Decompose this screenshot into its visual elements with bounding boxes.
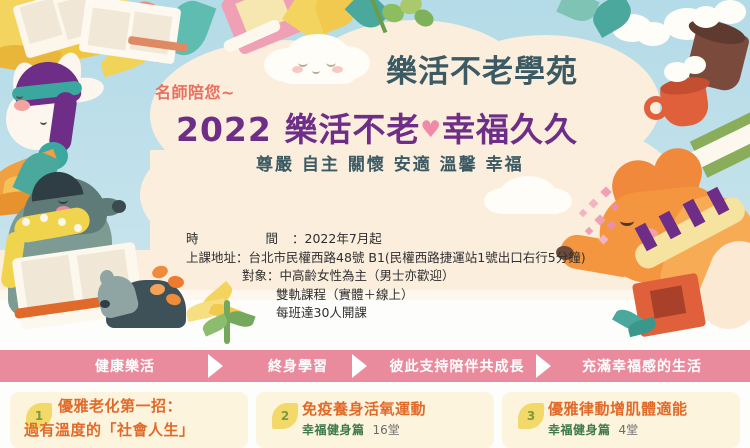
info-value-time: ：2022年7月起 <box>292 231 382 246</box>
steam-puff <box>714 0 746 24</box>
cloud-cheek <box>292 66 303 73</box>
cloud-cheek <box>332 66 343 73</box>
course-title: 優雅律動增肌體適能 <box>548 399 734 419</box>
info-row-time: 時 間：2022年7月起 <box>186 230 586 249</box>
poster-root: 樂活不老學苑 名師陪您~ 2022 樂活不老♥幸福久久 尊嚴 自主 關懷 安適 … <box>0 0 750 448</box>
course-series: 幸福健身篇 <box>302 423 365 437</box>
banner-item-3[interactable]: 充滿幸福感的生活 <box>552 350 732 382</box>
info-label-audience: 對象 <box>242 268 267 283</box>
headline-part-1: 2022 樂活不老 <box>176 110 420 149</box>
info-label-time: 時 間 <box>186 231 292 246</box>
course-count: 4堂 <box>619 423 639 437</box>
book-cover-panel <box>650 285 686 318</box>
decor-cloud <box>496 196 564 214</box>
steam-puff <box>684 56 706 74</box>
scarf-dot <box>74 224 82 232</box>
chevron-right-icon <box>208 354 225 378</box>
heart-icon: ♥ <box>420 117 442 143</box>
banner-item-1[interactable]: 終身學習 <box>228 350 368 382</box>
headline: 2022 樂活不老♥幸福久久 <box>176 103 578 151</box>
info-row-audience: 對象：中高齡女性為主（男士亦歡迎） <box>186 267 586 286</box>
hedgehog-ear <box>100 270 114 286</box>
book-page <box>88 8 131 51</box>
hedgehog-nose <box>100 300 110 308</box>
info-value-address: ：台北市民權西路48號 B1(民權西路捷運站1號出口右行5分鐘) <box>236 250 586 265</box>
course-subtitle: 幸福健身篇16堂 <box>302 421 488 439</box>
cloud-mouth <box>312 68 320 74</box>
info-row-dual-track: 雙軌課程（實體＋線上） <box>186 286 586 305</box>
values-subtitle: 尊嚴 自主 關懷 安適 溫馨 幸福 <box>256 150 524 175</box>
page-title: 樂活不老學苑 <box>386 46 578 91</box>
banner-item-0[interactable]: 健康樂活 <box>40 350 210 382</box>
fox-eye <box>620 216 634 226</box>
info-row-address: 上課地址：台北市民權西路48號 B1(民權西路捷運站1號出口右行5分鐘) <box>186 249 586 268</box>
info-value-audience: ：中高齡女性為主（男士亦歡迎） <box>267 268 455 283</box>
cup-handle <box>644 96 668 120</box>
mole-eye <box>58 196 68 204</box>
chevron-right-icon <box>352 354 369 378</box>
rabbit-eye <box>16 92 23 99</box>
course-title: 免疫養身活氧運動 <box>302 399 488 419</box>
rabbit-cheek <box>14 100 30 111</box>
course-count: 16堂 <box>373 423 400 437</box>
scarf-dot <box>22 218 30 226</box>
course-card-1[interactable]: 1 優雅老化第一招： 過有溫度的「社會人生」 <box>10 392 248 448</box>
feature-banner: 健康樂活 終身學習 彼此支持陪伴共成長 充滿幸福感的生活 <box>0 350 750 382</box>
headline-part-2: 幸福久久 <box>442 110 578 149</box>
rabbit-eye <box>40 118 47 125</box>
chevron-right-icon <box>536 354 553 378</box>
course-card-3[interactable]: 3 優雅律動增肌體適能 幸福健身篇4堂 <box>502 392 740 448</box>
course-series: 幸福健身篇 <box>548 423 611 437</box>
course-number-badge: 3 <box>518 403 544 429</box>
banner-item-2[interactable]: 彼此支持陪伴共成長 <box>368 350 546 382</box>
scarf-dot <box>40 214 48 222</box>
course-info-block: 時 間：2022年7月起 上課地址：台北市民權西路48號 B1(民權西路捷運站1… <box>186 230 586 323</box>
info-label-address: 上課地址 <box>186 250 236 265</box>
mole-nose <box>112 200 126 213</box>
info-row-min-enrollment: 每班達30人開課 <box>186 304 586 323</box>
scarf-dot <box>58 218 66 226</box>
tagline: 名師陪您~ <box>155 79 235 103</box>
course-title: 優雅老化第一招： <box>58 396 242 416</box>
course-number-badge: 2 <box>272 403 298 429</box>
course-card-2[interactable]: 2 免疫養身活氧運動 幸福健身篇16堂 <box>256 392 494 448</box>
course-title-line2: 過有溫度的「社會人生」 <box>24 419 242 440</box>
course-subtitle: 幸福健身篇4堂 <box>548 421 734 439</box>
